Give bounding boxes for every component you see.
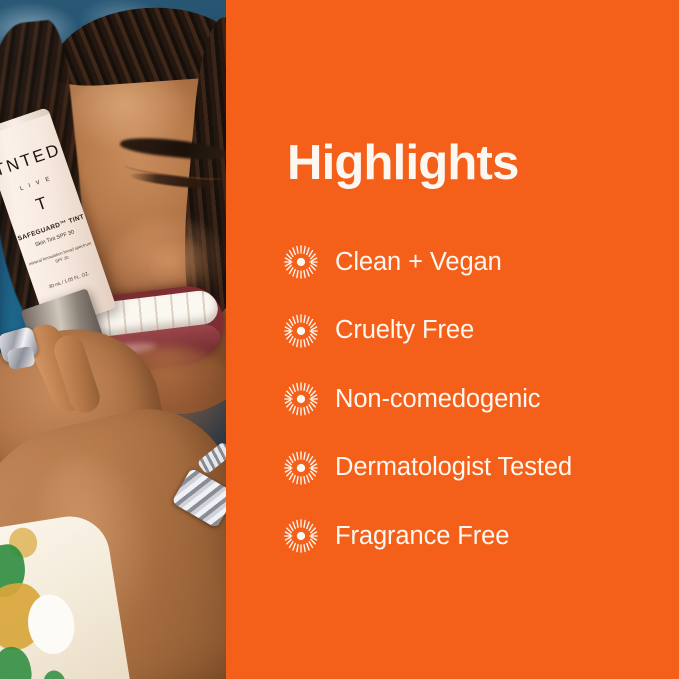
highlights-panel: Highlights bbox=[226, 0, 679, 679]
nose bbox=[150, 236, 206, 292]
sunburst-icon bbox=[283, 518, 319, 554]
sunburst-icon bbox=[283, 450, 319, 486]
list-item-label: Non-comedogenic bbox=[335, 387, 540, 413]
highlights-banner: TNTED L I V E T SAFEGUARD™ TINT Skin Tin… bbox=[0, 0, 679, 679]
sunburst-icon bbox=[283, 313, 319, 349]
sunburst-icon bbox=[283, 381, 319, 417]
highlights-list: Clean + Vegan bbox=[283, 228, 572, 571]
tube-size-label: 30 mL / 1.05 FL. OZ. bbox=[34, 266, 104, 294]
list-item: Clean + Vegan bbox=[283, 228, 572, 297]
list-item: Dermatologist Tested bbox=[283, 434, 572, 503]
list-item: Fragrance Free bbox=[283, 502, 572, 571]
list-item-label: Fragrance Free bbox=[335, 524, 509, 550]
list-item-label: Dermatologist Tested bbox=[335, 455, 572, 481]
list-item-label: Clean + Vegan bbox=[335, 250, 502, 276]
page-title: Highlights bbox=[287, 139, 519, 188]
sunburst-icon bbox=[283, 244, 319, 280]
shirt-pattern-green-c bbox=[42, 669, 68, 679]
list-item-label: Cruelty Free bbox=[335, 318, 474, 344]
product-photo: TNTED L I V E T SAFEGUARD™ TINT Skin Tin… bbox=[0, 0, 226, 679]
list-item: Non-comedogenic bbox=[283, 365, 572, 434]
list-item: Cruelty Free bbox=[283, 297, 572, 366]
shirt-pattern-green-b bbox=[0, 644, 34, 679]
